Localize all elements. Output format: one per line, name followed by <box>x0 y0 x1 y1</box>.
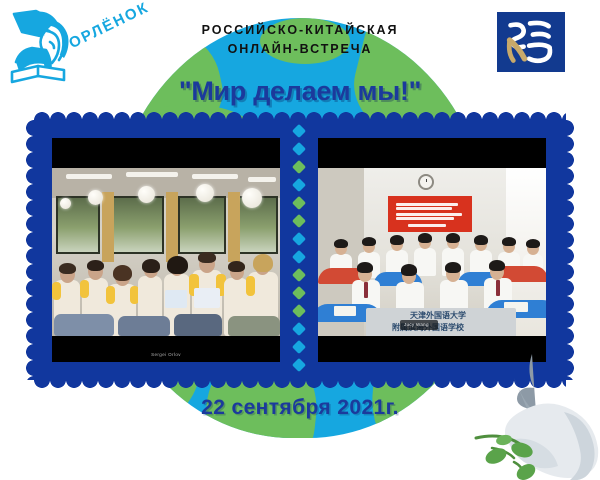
photo-chinese-students[interactable]: 天津外国语大学 附属滨海外国语学校 Jucy Wang <box>318 138 546 362</box>
pillar <box>228 192 240 262</box>
photo-divider-diamonds <box>294 124 304 378</box>
letterbox-top <box>52 138 280 168</box>
poster-slogan: "Мир делаем мы!" <box>0 76 600 107</box>
globe-bottom-mask <box>60 452 540 480</box>
globe-lamp <box>196 184 214 202</box>
globe-lamp <box>60 198 71 209</box>
photo-left-scene <box>52 168 280 336</box>
pillar <box>166 192 178 262</box>
headline-line-2: ОНЛАЙН-ВСТРЕЧА <box>0 42 600 56</box>
photo-russian-students[interactable]: Sergei Orlov <box>52 138 280 362</box>
peace-dove-with-olive-branch-icon <box>470 352 600 480</box>
globe-lamp <box>88 190 103 205</box>
globe-lamp <box>138 186 155 203</box>
wall-clock-icon <box>418 174 434 190</box>
red-banner <box>388 196 472 232</box>
school-banner: 天津外国语大学 附属滨海外国语学校 <box>366 308 516 336</box>
photo-left-caption: Sergei Orlov <box>151 352 181 357</box>
headline-line-1: РОССИЙСКО-КИТАЙСКАЯ <box>0 23 600 37</box>
letterbox-bottom: Sergei Orlov <box>52 336 280 362</box>
window <box>178 196 226 254</box>
students-group <box>52 254 280 336</box>
globe-lamp <box>242 188 262 208</box>
photo-right-caption: Jucy Wang <box>404 322 429 327</box>
window <box>112 196 164 254</box>
photo-right-scene: 天津外国语大学 附属滨海外国语学校 Jucy Wang <box>318 168 546 336</box>
pillar <box>102 192 114 262</box>
poster-canvas: ОРЛЁНОК РОССИЙСКО-КИТАЙСКАЯ ОНЛАЙН-ВСТРЕ… <box>0 0 600 480</box>
frame-scallop-right <box>558 120 574 380</box>
letterbox-top <box>318 138 546 168</box>
frame-scallop-left <box>26 120 42 380</box>
